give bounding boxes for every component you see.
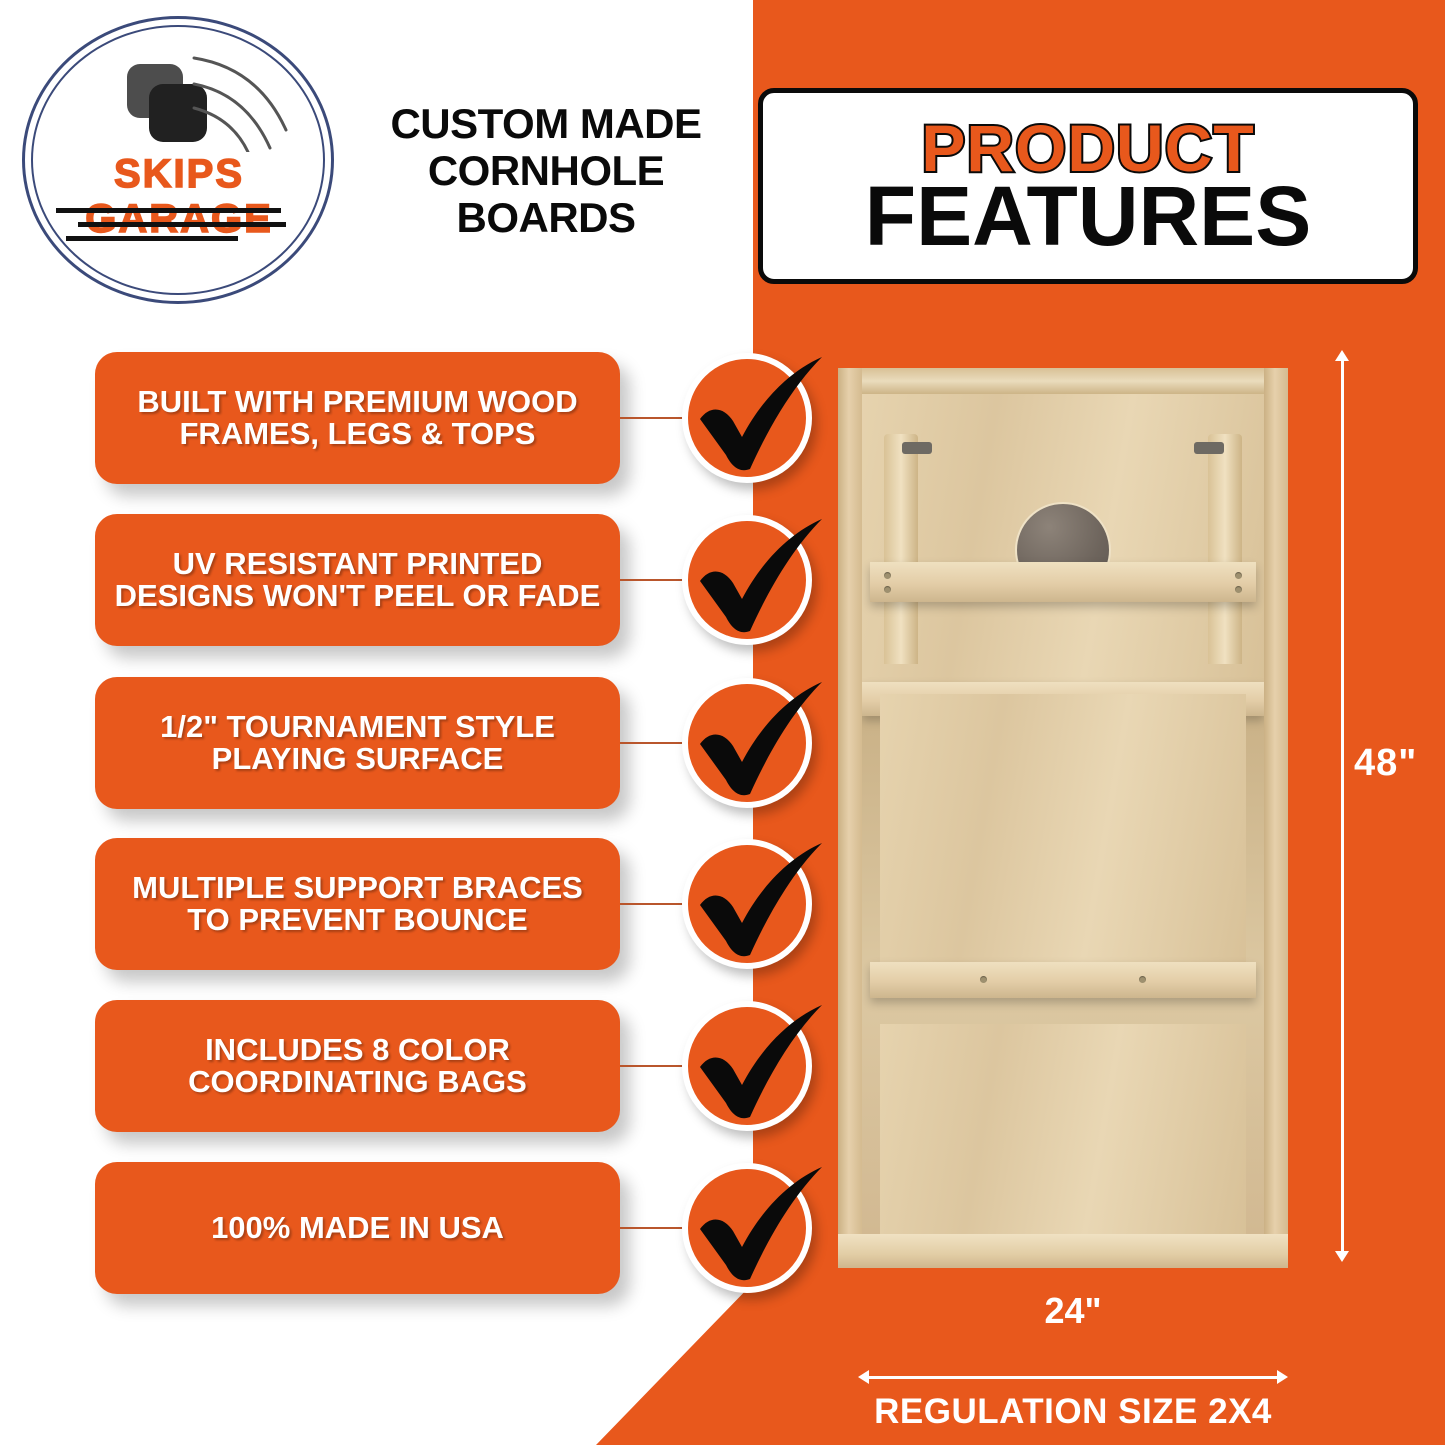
logo-underlines	[14, 208, 344, 250]
feature-row: INCLUDES 8 COLOR COORDINATING BAGS	[0, 1000, 830, 1132]
brand-logo: SKIPS GARAGE	[14, 12, 344, 308]
feature-check-badge	[682, 839, 812, 969]
height-dimension-label: 48"	[1354, 742, 1417, 785]
feature-row: UV RESISTANT PRINTED DESIGNS WON'T PEEL …	[0, 514, 830, 646]
logo-underline-3	[66, 236, 238, 241]
leg-hinge-right	[1194, 442, 1224, 454]
feature-check-badge	[682, 1163, 812, 1293]
feature-row: BUILT WITH PREMIUM WOOD FRAMES, LEGS & T…	[0, 352, 830, 484]
feature-check-badge	[682, 515, 812, 645]
screw	[1139, 976, 1146, 983]
checkmark-icon	[676, 662, 836, 822]
checkmark-icon	[676, 985, 836, 1145]
plywood-panel-lower	[880, 1024, 1246, 1234]
feature-row: 100% MADE IN USA	[0, 1162, 830, 1294]
feature-check-badge	[682, 678, 812, 808]
board-frame-right	[1264, 368, 1288, 1268]
motion-arcs-icon	[190, 52, 310, 152]
width-dimension-label: 24"	[858, 1290, 1288, 1332]
logo-underline-2	[78, 222, 286, 227]
feature-pill-label: INCLUDES 8 COLOR COORDINATING BAGS	[95, 1000, 620, 1132]
board-interior	[862, 394, 1264, 1234]
screw	[980, 976, 987, 983]
checkmark-icon	[676, 823, 836, 983]
screw	[884, 586, 891, 593]
screw	[1235, 586, 1242, 593]
screw	[884, 572, 891, 579]
feature-pill-label: 100% MADE IN USA	[95, 1162, 620, 1294]
checkmark-icon	[676, 1147, 836, 1307]
width-dimension-arrow	[858, 1370, 1288, 1384]
checkmark-icon	[676, 337, 836, 497]
regulation-size-note: REGULATION SIZE 2X4	[828, 1392, 1318, 1432]
dimension-line-horizontal	[865, 1376, 1281, 1379]
arrow-down-icon	[1335, 1251, 1349, 1262]
folding-leg-left	[884, 434, 918, 664]
feature-row: MULTIPLE SUPPORT BRACES TO PREVENT BOUNC…	[0, 838, 830, 970]
product-features-title-box: PRODUCT FEATURES	[758, 88, 1418, 284]
feature-pill-label: MULTIPLE SUPPORT BRACES TO PREVENT BOUNC…	[95, 838, 620, 970]
plywood-panel-middle	[880, 694, 1246, 984]
title-line-features: FEATURES	[865, 177, 1311, 257]
support-brace-1	[870, 562, 1256, 602]
feature-pill-label: BUILT WITH PREMIUM WOOD FRAMES, LEGS & T…	[95, 352, 620, 484]
feature-row: 1/2" TOURNAMENT STYLE PLAYING SURFACE	[0, 677, 830, 809]
leg-hinge-left	[902, 442, 932, 454]
feature-check-badge	[682, 1001, 812, 1131]
folding-leg-right	[1208, 434, 1242, 664]
board-frame-left	[838, 368, 862, 1268]
dimension-line-vertical	[1341, 357, 1344, 1255]
logo-underline-1	[56, 208, 281, 213]
screw	[1235, 572, 1242, 579]
checkmark-icon	[676, 499, 836, 659]
support-brace-3	[870, 962, 1256, 998]
cornhole-board-photo	[838, 368, 1288, 1268]
infographic-canvas: SKIPS GARAGE CUSTOM MADE CORNHOLE BOARDS…	[0, 0, 1445, 1445]
height-dimension-arrow	[1335, 350, 1349, 1262]
feature-check-badge	[682, 353, 812, 483]
page-headline: CUSTOM MADE CORNHOLE BOARDS	[350, 100, 742, 241]
arrow-right-icon	[1277, 1370, 1288, 1384]
board-frame-bottom	[838, 1234, 1288, 1268]
feature-pill-label: 1/2" TOURNAMENT STYLE PLAYING SURFACE	[95, 677, 620, 809]
board-frame-top	[838, 368, 1288, 394]
feature-pill-label: UV RESISTANT PRINTED DESIGNS WON'T PEEL …	[95, 514, 620, 646]
